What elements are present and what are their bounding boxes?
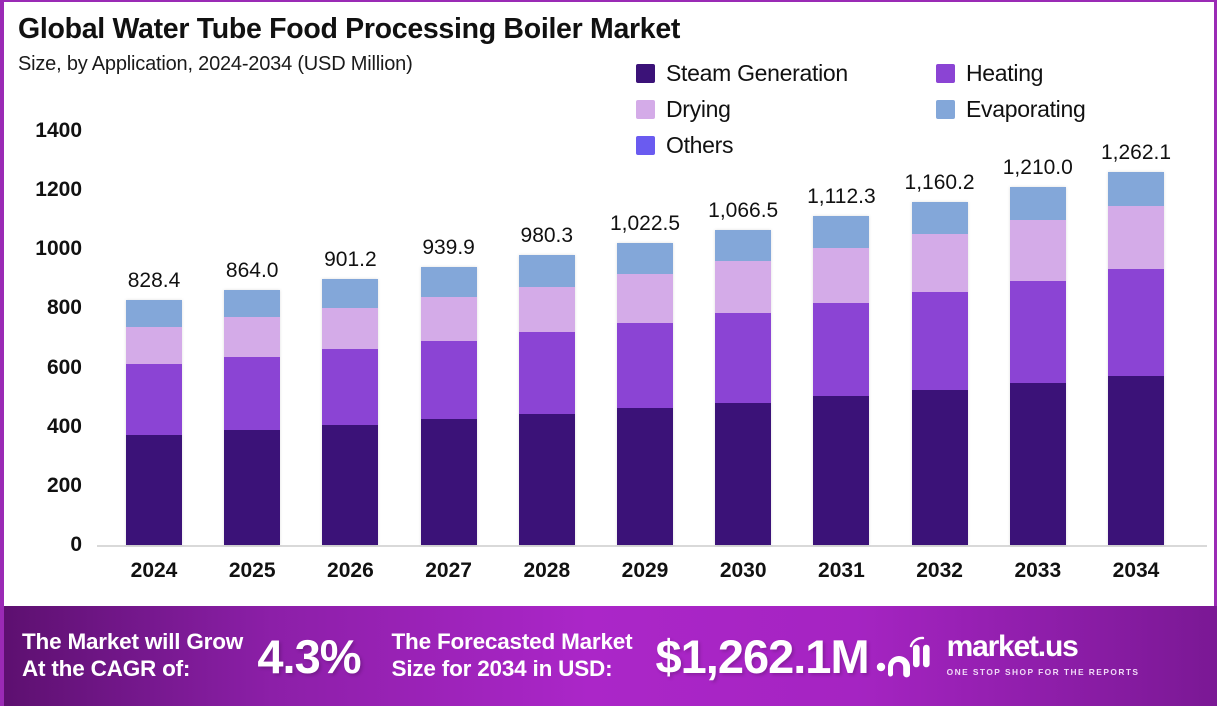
- bar-segment-steam-generation[interactable]: [715, 403, 771, 545]
- bar-segment-evaporating[interactable]: [1108, 172, 1164, 206]
- bar-segment-evaporating[interactable]: [617, 243, 673, 275]
- bar-segment-heating[interactable]: [1108, 269, 1164, 376]
- y-axis-tick-label: 0: [4, 533, 82, 557]
- bar-segment-evaporating[interactable]: [322, 279, 378, 308]
- bar-group[interactable]: 864.02025: [224, 2, 280, 608]
- y-axis-tick-label: 1400: [4, 119, 82, 143]
- bar-segment-steam-generation[interactable]: [322, 425, 378, 545]
- stacked-bar[interactable]: [617, 243, 673, 545]
- bar-segment-heating[interactable]: [1010, 281, 1066, 384]
- y-axis-tick-label: 400: [4, 415, 82, 439]
- bar-group[interactable]: 1,160.22032: [912, 2, 968, 608]
- chart-plot-area: 0200400600800100012001400 828.42024864.0…: [4, 2, 1217, 608]
- bar-group[interactable]: 828.42024: [126, 2, 182, 608]
- bar-segment-steam-generation[interactable]: [617, 408, 673, 545]
- bar-segment-steam-generation[interactable]: [813, 396, 869, 545]
- bar-segment-drying[interactable]: [224, 317, 280, 356]
- y-axis-tick-label: 800: [4, 296, 82, 320]
- bar-group[interactable]: 1,066.52030: [715, 2, 771, 608]
- bar-group[interactable]: 1,210.02033: [1010, 2, 1066, 608]
- bar-segment-evaporating[interactable]: [126, 300, 182, 327]
- market-us-logo-icon: [875, 634, 937, 678]
- cagr-label-line1: The Market will Grow: [22, 629, 257, 656]
- bar-segment-steam-generation[interactable]: [126, 435, 182, 545]
- brand-text: market.us ONE STOP SHOP FOR THE REPORTS: [947, 632, 1217, 680]
- stacked-bar[interactable]: [1010, 187, 1066, 545]
- bar-segment-drying[interactable]: [1108, 206, 1164, 270]
- bar-group[interactable]: 1,022.52029: [617, 2, 673, 608]
- x-axis-tick-label: 2028: [497, 559, 597, 583]
- x-axis-tick-label: 2032: [890, 559, 990, 583]
- x-axis-tick-label: 2033: [988, 559, 1088, 583]
- x-axis-tick-label: 2034: [1086, 559, 1186, 583]
- stacked-bar[interactable]: [421, 267, 477, 545]
- bar-segment-drying[interactable]: [421, 297, 477, 340]
- bar-group[interactable]: 939.92027: [421, 2, 477, 608]
- bar-segment-evaporating[interactable]: [519, 255, 575, 286]
- cagr-label: The Market will Grow At the CAGR of:: [22, 629, 257, 682]
- bar-segment-heating[interactable]: [126, 364, 182, 434]
- forecast-value: $1,262.1M: [656, 629, 869, 684]
- stacked-bar[interactable]: [813, 216, 869, 545]
- bar-value-label: 1,262.1: [1071, 141, 1201, 165]
- stacked-bar[interactable]: [715, 230, 771, 545]
- stacked-bar[interactable]: [912, 202, 968, 545]
- brand-logo[interactable]: market.us ONE STOP SHOP FOR THE REPORTS: [875, 632, 1217, 680]
- bar-segment-drying[interactable]: [1010, 220, 1066, 281]
- bar-segment-evaporating[interactable]: [224, 290, 280, 318]
- bar-segment-heating[interactable]: [617, 323, 673, 408]
- bar-segment-heating[interactable]: [912, 292, 968, 390]
- bar-group[interactable]: 980.32028: [519, 2, 575, 608]
- x-axis-tick-label: 2031: [791, 559, 891, 583]
- bar-segment-steam-generation[interactable]: [912, 390, 968, 545]
- bar-segment-heating[interactable]: [322, 349, 378, 425]
- bar-segment-heating[interactable]: [519, 332, 575, 414]
- stacked-bar[interactable]: [519, 255, 575, 545]
- bar-segment-steam-generation[interactable]: [421, 419, 477, 545]
- bar-segment-evaporating[interactable]: [1010, 187, 1066, 220]
- bar-group[interactable]: 901.22026: [322, 2, 378, 608]
- bar-segment-steam-generation[interactable]: [1108, 376, 1164, 545]
- bar-group[interactable]: 1,112.32031: [813, 2, 869, 608]
- bar-segment-drying[interactable]: [715, 261, 771, 313]
- x-axis-tick-label: 2027: [399, 559, 499, 583]
- stacked-bar[interactable]: [126, 300, 182, 545]
- x-axis-tick-label: 2029: [595, 559, 695, 583]
- cagr-value: 4.3%: [257, 629, 385, 684]
- x-axis-tick-label: 2025: [202, 559, 302, 583]
- stacked-bar[interactable]: [322, 279, 378, 545]
- y-axis-tick-label: 200: [4, 474, 82, 498]
- infographic-page: Global Water Tube Food Processing Boiler…: [0, 0, 1217, 706]
- bar-group[interactable]: 1,262.12034: [1108, 2, 1164, 608]
- footer-banner: The Market will Grow At the CAGR of: 4.3…: [4, 606, 1217, 706]
- bar-segment-steam-generation[interactable]: [519, 414, 575, 545]
- bar-segment-evaporating[interactable]: [912, 202, 968, 234]
- forecast-label-line2: Size for 2034 in USD:: [392, 656, 656, 683]
- forecast-label-line1: The Forecasted Market: [392, 629, 656, 656]
- stacked-bar[interactable]: [224, 290, 280, 545]
- bar-segment-heating[interactable]: [224, 357, 280, 430]
- bar-segment-steam-generation[interactable]: [1010, 383, 1066, 545]
- bar-segment-drying[interactable]: [126, 327, 182, 365]
- bar-segment-drying[interactable]: [813, 248, 869, 303]
- brand-tagline: ONE STOP SHOP FOR THE REPORTS: [947, 667, 1140, 677]
- x-axis-tick-label: 2030: [693, 559, 793, 583]
- bar-segment-steam-generation[interactable]: [224, 430, 280, 545]
- x-axis-tick-label: 2026: [300, 559, 400, 583]
- forecast-label: The Forecasted Market Size for 2034 in U…: [392, 629, 656, 682]
- brand-name: market.us: [947, 630, 1078, 663]
- x-axis-tick-label: 2024: [104, 559, 204, 583]
- bar-segment-evaporating[interactable]: [813, 216, 869, 247]
- bar-segment-heating[interactable]: [813, 303, 869, 397]
- bar-segment-heating[interactable]: [421, 341, 477, 420]
- bar-segment-drying[interactable]: [322, 308, 378, 349]
- bar-segment-drying[interactable]: [519, 287, 575, 333]
- bar-segment-drying[interactable]: [912, 234, 968, 292]
- cagr-label-line2: At the CAGR of:: [22, 656, 257, 683]
- bar-segment-evaporating[interactable]: [421, 267, 477, 297]
- stacked-bar[interactable]: [1108, 172, 1164, 545]
- y-axis-tick-label: 1000: [4, 237, 82, 261]
- y-axis-tick-label: 1200: [4, 178, 82, 202]
- bar-segment-evaporating[interactable]: [715, 230, 771, 262]
- bar-segment-drying[interactable]: [617, 274, 673, 322]
- bar-segment-heating[interactable]: [715, 313, 771, 403]
- y-axis-tick-label: 600: [4, 356, 82, 380]
